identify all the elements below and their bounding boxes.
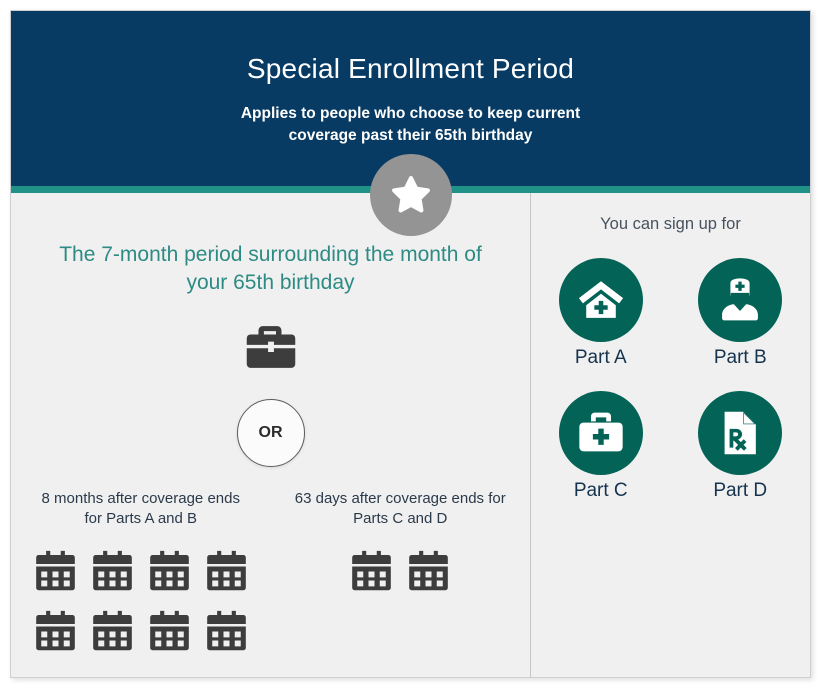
calendar-icon [90,549,135,599]
calendar-icon [204,549,249,599]
doctor-icon [698,258,782,342]
branches-row: 8 months after coverage ends for Parts A… [11,489,530,660]
card-body: The 7-month period surrounding the month… [11,193,810,677]
calendar-icon [406,549,451,599]
eligibility-panel: The 7-month period surrounding the month… [11,193,531,677]
part-label: Part D [698,480,782,502]
infographic-card: Special Enrollment Period Applies to peo… [10,10,811,678]
branch-parts-ab: 8 months after coverage ends for Parts A… [11,489,271,660]
calendar-icon [33,549,78,599]
part-d-item[interactable]: Part D [698,391,782,502]
parts-grid: Part A Part B [531,258,810,502]
signup-panel: You can sign up for Part A [531,193,810,677]
part-b-item[interactable]: Part B [698,258,782,369]
period-heading: The 7-month period surrounding the month… [11,193,530,298]
calendar-group-2 [340,549,460,599]
calendar-icon [33,609,78,659]
part-a-item[interactable]: Part A [559,258,643,369]
calendar-icon [147,549,192,599]
branch-parts-cd: 63 days after coverage ends for Parts C … [271,489,531,660]
calendar-icon [204,609,249,659]
briefcase-icon [11,324,530,375]
calendar-group-8 [26,549,256,659]
prescription-rx-icon [698,391,782,475]
part-c-item[interactable]: Part C [559,391,643,502]
medical-bag-icon [559,391,643,475]
or-connector: OR [11,399,530,467]
calendar-icon [90,609,135,659]
calendar-icon [349,549,394,599]
part-label: Part A [559,347,643,369]
page-title: Special Enrollment Period [11,11,810,85]
part-label: Part B [698,347,782,369]
star-icon [370,154,452,236]
house-medical-icon [559,258,643,342]
branch-label: 63 days after coverage ends for Parts C … [293,489,508,530]
or-label: OR [237,399,305,467]
header-subtitle: Applies to people who choose to keep cur… [231,103,591,148]
branch-label: 8 months after coverage ends for Parts A… [33,489,248,530]
calendar-icon [147,609,192,659]
signup-title: You can sign up for [531,193,810,234]
part-label: Part C [559,480,643,502]
